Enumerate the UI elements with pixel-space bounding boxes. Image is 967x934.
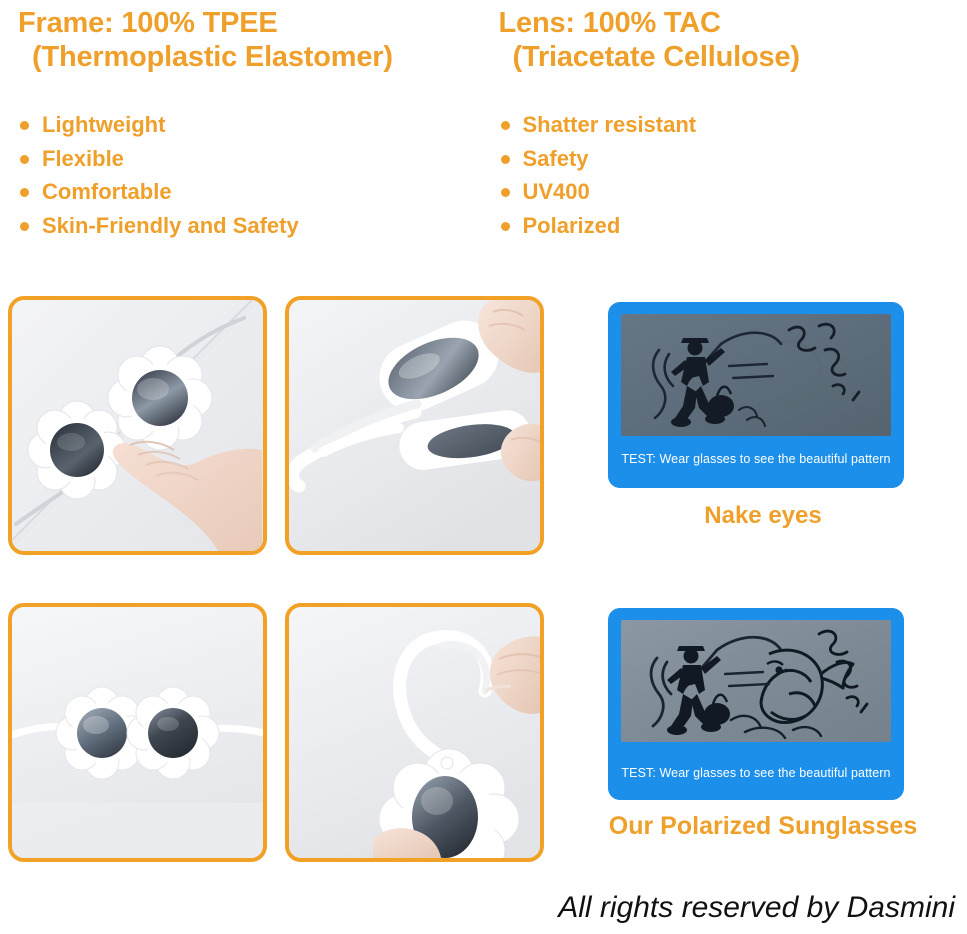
- list-item: UV400: [499, 175, 967, 209]
- product-photo-3: [8, 603, 267, 862]
- photo-scene-finger-on-lens: [12, 300, 263, 551]
- bullet-dot-icon: [20, 188, 29, 197]
- lens-spec-title-line1: Lens: 100% TAC: [499, 7, 721, 39]
- bullet-dot-icon: [501, 188, 510, 197]
- photo-scene-sunglasses-front-view: [12, 607, 263, 858]
- frame-feature-list: Lightweight Flexible Comfortable Skin-Fr…: [18, 108, 484, 242]
- lens-spec-column: Lens: 100% TAC (Triacetate Cellulose) Sh…: [484, 0, 967, 272]
- bullet-dot-icon: [501, 222, 510, 231]
- frame-spec-title: Frame: 100% TPEE (Thermoplastic Elastome…: [18, 6, 484, 74]
- bullet-dot-icon: [501, 155, 510, 164]
- frame-feature-label: Comfortable: [42, 179, 172, 204]
- product-photo-grid: [8, 296, 555, 862]
- list-item: Lightweight: [18, 108, 484, 142]
- polarized-test-with-sunglasses: TEST: Wear glasses to see the beautiful …: [608, 608, 918, 841]
- bullet-dot-icon: [20, 222, 29, 231]
- test-caption-text: TEST: Wear glasses to see the beautiful …: [608, 766, 904, 780]
- lens-feature-label: Polarized: [523, 213, 621, 238]
- bullet-dot-icon: [20, 121, 29, 130]
- specifications-header: Frame: 100% TPEE (Thermoplastic Elastome…: [0, 0, 967, 272]
- list-item: Flexible: [18, 142, 484, 176]
- polarized-sunglasses-label: Our Polarized Sunglasses: [608, 812, 918, 841]
- test-caption-text: TEST: Wear glasses to see the beautiful …: [608, 452, 904, 466]
- list-item: Skin-Friendly and Safety: [18, 209, 484, 243]
- test-card-blue: TEST: Wear glasses to see the beautiful …: [608, 302, 904, 488]
- list-item: Comfortable: [18, 175, 484, 209]
- frame-feature-label: Lightweight: [42, 112, 165, 137]
- lens-spec-title-line2: (Triacetate Cellulose): [499, 40, 967, 74]
- test-pattern-panel-polarized: [621, 620, 891, 742]
- list-item: Shatter resistant: [499, 108, 967, 142]
- test-pattern-panel-naked: [621, 314, 891, 436]
- frame-spec-title-line2: (Thermoplastic Elastomer): [18, 40, 484, 74]
- frame-spec-title-line1: Frame: 100% TPEE: [18, 7, 278, 39]
- lens-spec-title: Lens: 100% TAC (Triacetate Cellulose): [499, 6, 967, 74]
- frame-feature-label: Flexible: [42, 146, 124, 171]
- lens-feature-label: Shatter resistant: [523, 112, 697, 137]
- list-item: Polarized: [499, 209, 967, 243]
- bullet-dot-icon: [20, 155, 29, 164]
- frame-feature-label: Skin-Friendly and Safety: [42, 213, 299, 238]
- list-item: Safety: [499, 142, 967, 176]
- naked-eyes-label: Nake eyes: [608, 502, 918, 530]
- lens-feature-list: Shatter resistant Safety UV400 Polarized: [499, 108, 967, 242]
- photo-scene-temple-bent-loop: [289, 607, 540, 858]
- product-photo-4: [285, 603, 544, 862]
- bullet-dot-icon: [501, 121, 510, 130]
- photo-scene-flexing-temples: [289, 300, 540, 551]
- frame-spec-column: Frame: 100% TPEE (Thermoplastic Elastome…: [0, 0, 484, 272]
- lens-feature-label: UV400: [523, 179, 590, 204]
- test-card-blue: TEST: Wear glasses to see the beautiful …: [608, 608, 904, 800]
- product-photo-2: [285, 296, 544, 555]
- lens-feature-label: Safety: [523, 146, 589, 171]
- polarized-test-naked-eyes: TEST: Wear glasses to see the beautiful …: [608, 302, 918, 530]
- product-photo-1: [8, 296, 267, 555]
- copyright-text: All rights reserved by Dasmini: [558, 891, 955, 925]
